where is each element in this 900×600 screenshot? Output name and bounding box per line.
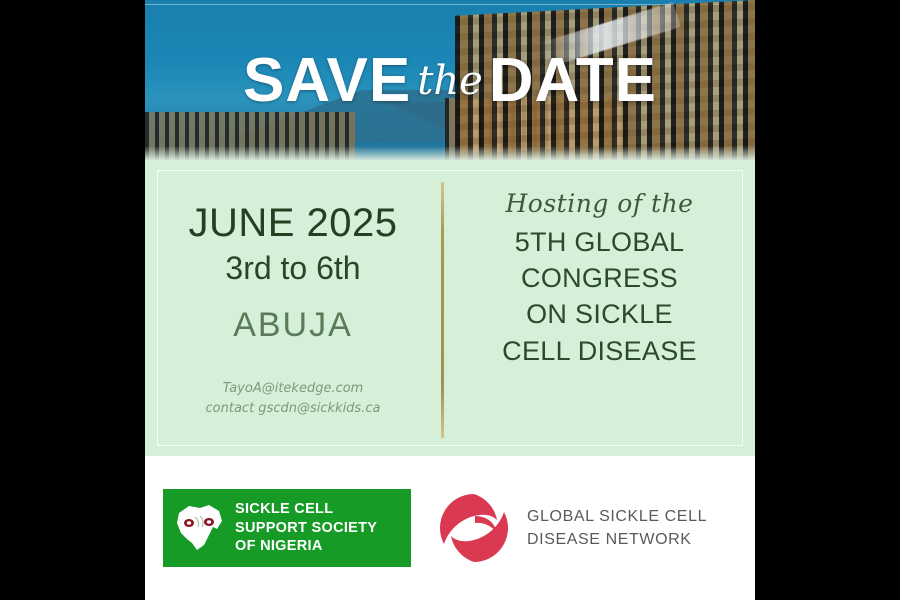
contact-block: TayoA@itekedge.com contact gscdn@sickkid… — [206, 379, 381, 418]
congress-title-line: 5TH GLOBAL — [502, 224, 697, 260]
hosting-script-label: Hosting of the — [506, 190, 694, 218]
sscsn-line: SICKLE CELL — [235, 500, 377, 519]
congress-title: 5TH GLOBAL CONGRESS ON SICKLE CELL DISEA… — [502, 224, 697, 370]
banner-bottom-fade — [145, 146, 755, 160]
event-city: ABUJA — [233, 308, 353, 344]
congress-title-line: CELL DISEASE — [502, 333, 697, 369]
logo-global-sickle-cell-disease-network[interactable]: GLOBAL SICKLE CELL DISEASE NETWORK — [435, 489, 707, 567]
sscsn-wordmark: SICKLE CELL SUPPORT SOCIETY OF NIGERIA — [235, 500, 377, 556]
congress-title-column: Hosting of the 5TH GLOBAL CONGRESS ON SI… — [444, 160, 755, 456]
banner-photo: SAVEtheDATE — [145, 0, 755, 160]
event-month-year: JUNE 2025 — [188, 202, 397, 244]
congress-title-line: ON SICKLE — [502, 296, 697, 332]
event-details-column: JUNE 2025 3rd to 6th ABUJA TayoA@itekedg… — [145, 160, 441, 456]
gscdn-wordmark: GLOBAL SICKLE CELL DISEASE NETWORK — [527, 505, 707, 551]
nigeria-map-icon — [169, 499, 231, 557]
details-panel: JUNE 2025 3rd to 6th ABUJA TayoA@itekedg… — [145, 160, 755, 456]
gscdn-line: GLOBAL SICKLE CELL — [527, 505, 707, 528]
event-day-range: 3rd to 6th — [225, 252, 360, 286]
congress-title-line: CONGRESS — [502, 260, 697, 296]
sscsn-line: SUPPORT SOCIETY — [235, 519, 377, 538]
sscsn-line: OF NIGERIA — [235, 537, 377, 556]
gscdn-line: DISEASE NETWORK — [527, 528, 707, 551]
headline-save: SAVE — [243, 46, 411, 115]
logo-sickle-cell-support-society-nigeria[interactable]: SICKLE CELL SUPPORT SOCIETY OF NIGERIA — [163, 489, 411, 567]
gscdn-sickle-icon — [435, 489, 513, 567]
save-the-date-poster: SAVEtheDATE JUNE 2025 3rd to 6th ABUJA T… — [145, 0, 755, 600]
letterbox-stage: SAVEtheDATE JUNE 2025 3rd to 6th ABUJA T… — [0, 0, 900, 600]
headline-date: DATE — [489, 46, 657, 115]
headline-the: the — [417, 58, 483, 104]
footer-logos: SICKLE CELL SUPPORT SOCIETY OF NIGERIA G… — [145, 456, 755, 600]
panel-columns: JUNE 2025 3rd to 6th ABUJA TayoA@itekedg… — [145, 160, 755, 456]
contact-email[interactable]: TayoA@itekedge.com — [206, 379, 381, 399]
headline: SAVEtheDATE — [145, 50, 755, 112]
contact-secondary[interactable]: contact gscdn@sickkids.ca — [206, 399, 381, 419]
